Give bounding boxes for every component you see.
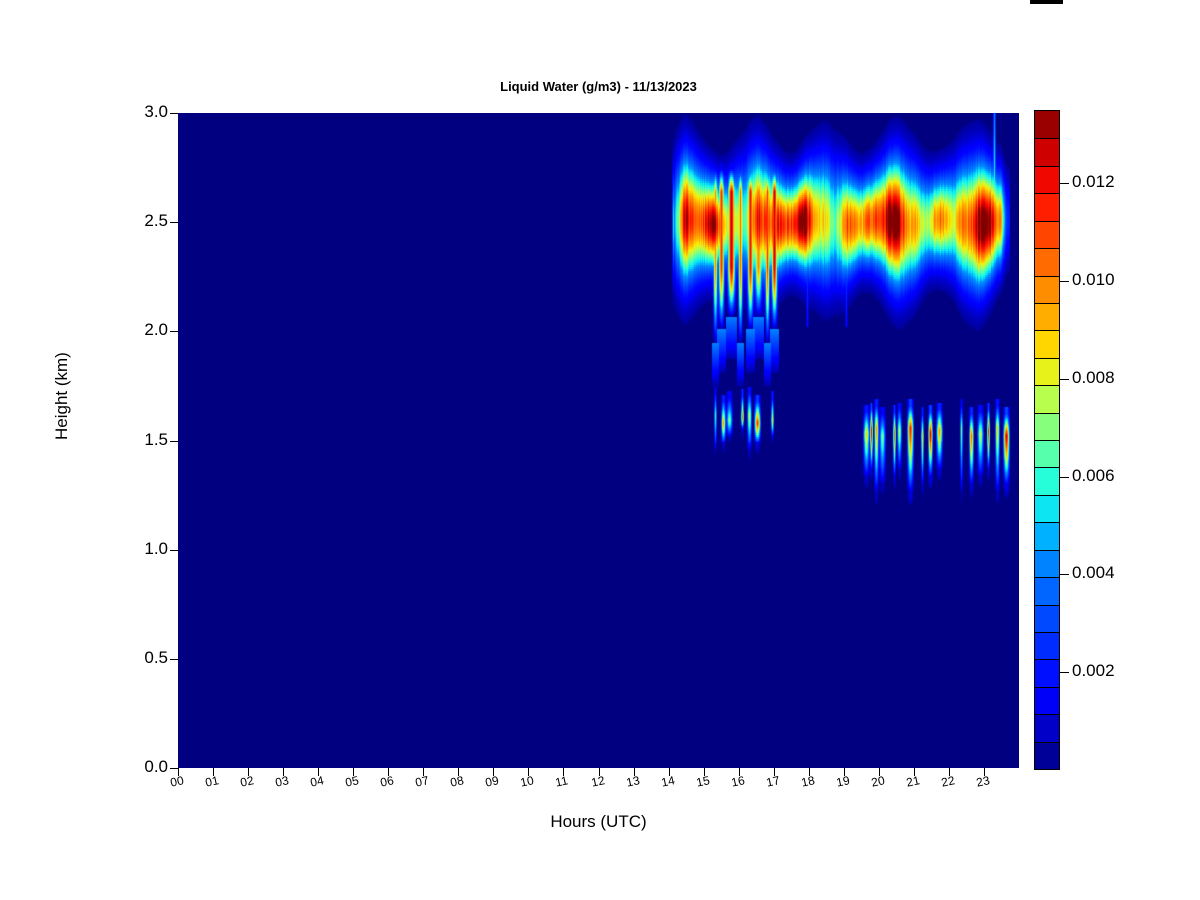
x-axis-tick-label: 23 [975, 773, 991, 789]
x-axis-tick-label: 12 [590, 773, 606, 789]
colorbar-segment [1035, 605, 1059, 633]
x-axis-tick-label: 18 [800, 773, 816, 789]
colorbar-tick-label: 0.010 [1072, 270, 1115, 290]
x-axis-tick-label: 05 [344, 773, 360, 789]
colorbar-segment [1035, 632, 1059, 660]
page-title: Liquid Water (g/m3) - 11/13/2023 [178, 79, 1019, 94]
heatmap-plot-area[interactable] [178, 113, 1019, 768]
colorbar-segment [1035, 138, 1059, 166]
x-axis-tick-label: 03 [274, 773, 290, 789]
x-axis-tick-label: 10 [519, 773, 535, 789]
y-axis-tick [170, 331, 178, 332]
x-axis-tick-label: 09 [484, 773, 500, 789]
colorbar-segment [1035, 659, 1059, 687]
y-axis-tick-label: 3.0 [144, 102, 168, 122]
liquid-water-heatmap[interactable] [178, 113, 1019, 768]
y-axis-tick-label: 2.0 [144, 320, 168, 340]
y-axis-tick-label: 1.0 [144, 539, 168, 559]
colorbar-segment [1035, 385, 1059, 413]
x-axis-tick-label: 04 [309, 773, 325, 789]
colorbar-tick [1060, 672, 1069, 673]
x-axis-tick-label: 07 [414, 773, 430, 789]
colorbar-tick-label: 0.006 [1072, 466, 1115, 486]
x-axis-title: Hours (UTC) [178, 812, 1019, 832]
y-axis-tick [170, 441, 178, 442]
raster-artifact-bar [1030, 0, 1063, 4]
colorbar-tick-label: 0.008 [1072, 368, 1115, 388]
y-axis-tick [170, 550, 178, 551]
y-axis-tick-label: 2.5 [144, 211, 168, 231]
x-axis-tick-label: 17 [765, 773, 781, 789]
colorbar-tick [1060, 477, 1069, 478]
colorbar-tick [1060, 183, 1069, 184]
x-axis-tick-label: 19 [835, 773, 851, 789]
y-axis-tick-label: 1.5 [144, 430, 168, 450]
colorbar-segment [1035, 495, 1059, 523]
colorbar-segment [1035, 687, 1059, 715]
x-axis-tick-label: 06 [379, 773, 395, 789]
y-axis-title: Height (km) [52, 352, 72, 440]
y-axis-tick-label: 0.5 [144, 648, 168, 668]
figure-canvas: Liquid Water (g/m3) - 11/13/2023 0.00.51… [0, 0, 1200, 900]
x-axis-tick-label: 15 [695, 773, 711, 789]
colorbar-segment [1035, 714, 1059, 742]
colorbar-segment [1035, 467, 1059, 495]
y-axis-tick [170, 768, 178, 769]
colorbar-segment [1035, 166, 1059, 194]
x-axis-tick-label: 02 [239, 773, 255, 789]
colorbar-tick-label: 0.012 [1072, 172, 1115, 192]
x-axis-tick-label: 14 [660, 773, 676, 789]
colorbar-segment [1035, 221, 1059, 249]
colorbar-tick-label: 0.004 [1072, 563, 1115, 583]
colorbar-segment [1035, 193, 1059, 221]
x-axis-tick-label: 08 [449, 773, 465, 789]
x-axis-tick-label: 11 [554, 773, 569, 789]
colorbar-tick [1060, 574, 1069, 575]
colorbar-tick [1060, 281, 1069, 282]
colorbar-segment [1035, 248, 1059, 276]
colorbar-segment [1035, 358, 1059, 386]
colorbar-segment [1035, 330, 1059, 358]
colorbar[interactable] [1034, 110, 1060, 770]
x-axis-tick-label: 20 [870, 773, 886, 789]
y-axis-tick-label: 0.0 [144, 757, 168, 777]
y-axis-tick [170, 113, 178, 114]
colorbar-segment [1035, 742, 1059, 770]
colorbar-tick [1060, 379, 1069, 380]
colorbar-segment [1035, 303, 1059, 331]
y-axis-tick [170, 222, 178, 223]
x-axis-tick-label: 13 [625, 773, 641, 789]
x-axis-tick-label: 16 [730, 773, 746, 789]
colorbar-segment [1035, 440, 1059, 468]
colorbar-segment [1035, 413, 1059, 441]
colorbar-segment [1035, 276, 1059, 304]
x-axis-tick-label: 01 [204, 773, 220, 789]
colorbar-segment [1035, 522, 1059, 550]
x-axis-tick-label: 22 [940, 773, 956, 789]
colorbar-segment [1035, 111, 1059, 139]
x-axis-tick-label: 21 [905, 773, 921, 789]
colorbar-tick-label: 0.002 [1072, 661, 1115, 681]
y-axis-tick [170, 659, 178, 660]
x-axis-tick-label: 00 [169, 773, 185, 789]
colorbar-segment [1035, 550, 1059, 578]
colorbar-segment [1035, 577, 1059, 605]
